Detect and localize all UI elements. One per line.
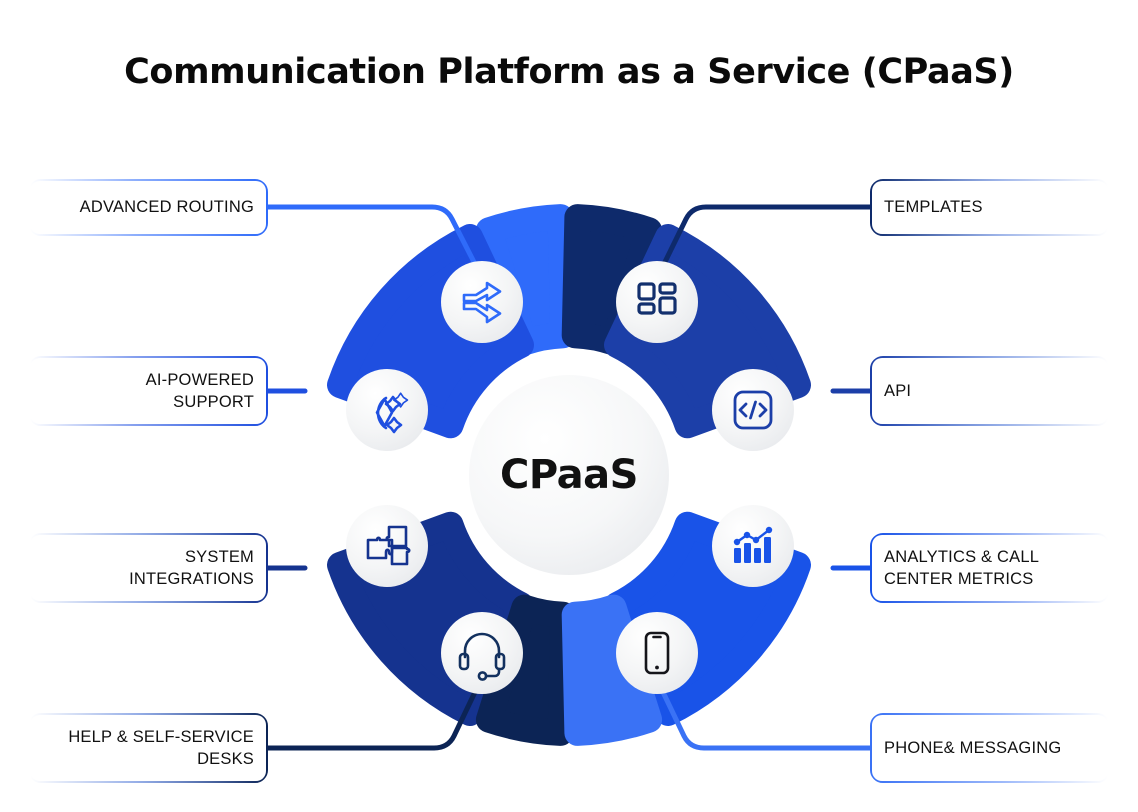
label-help-self-service-desks[interactable]: HELP & SELF-SERVICE DESKS: [30, 715, 266, 781]
badge-system-integrations: [346, 505, 428, 587]
center-hub-text: CPaaS: [500, 452, 638, 498]
center-hub-label: CPaaS: [469, 375, 669, 575]
label-phone-messaging-text: PHONE& MESSAGING: [884, 737, 1061, 759]
label-api[interactable]: API: [872, 358, 1108, 424]
badge-analytics-call-center-metrics: [712, 505, 794, 587]
label-system-integrations[interactable]: SYSTEM INTEGRATIONS: [30, 535, 266, 601]
label-ai-powered-support-text: AI-POWERED SUPPORT: [146, 369, 254, 414]
label-analytics-call-center-metrics[interactable]: ANALYTICS & CALL CENTER METRICS: [872, 535, 1108, 601]
badge-templates: [616, 261, 698, 343]
label-advanced-routing[interactable]: ADVANCED ROUTING: [30, 181, 266, 234]
badge-advanced-routing: [441, 261, 523, 343]
label-ai-powered-support[interactable]: AI-POWERED SUPPORT: [30, 358, 266, 424]
label-templates[interactable]: TEMPLATES: [872, 181, 1108, 234]
label-phone-messaging[interactable]: PHONE& MESSAGING: [872, 715, 1108, 781]
label-system-integrations-text: SYSTEM INTEGRATIONS: [129, 546, 254, 591]
badge-phone-messaging: [616, 612, 698, 694]
badge-help-self-service-desks: [441, 612, 523, 694]
badge-ai-powered-support: [346, 369, 428, 451]
diagram-stage: CPaaS ADVANCED ROUTING AI-POWERED SUPPOR…: [0, 0, 1138, 812]
label-help-self-service-desks-text: HELP & SELF-SERVICE DESKS: [68, 726, 254, 771]
label-templates-text: TEMPLATES: [884, 196, 983, 218]
label-api-text: API: [884, 380, 911, 402]
label-advanced-routing-text: ADVANCED ROUTING: [80, 196, 254, 218]
label-analytics-call-center-metrics-text: ANALYTICS & CALL CENTER METRICS: [884, 546, 1039, 591]
